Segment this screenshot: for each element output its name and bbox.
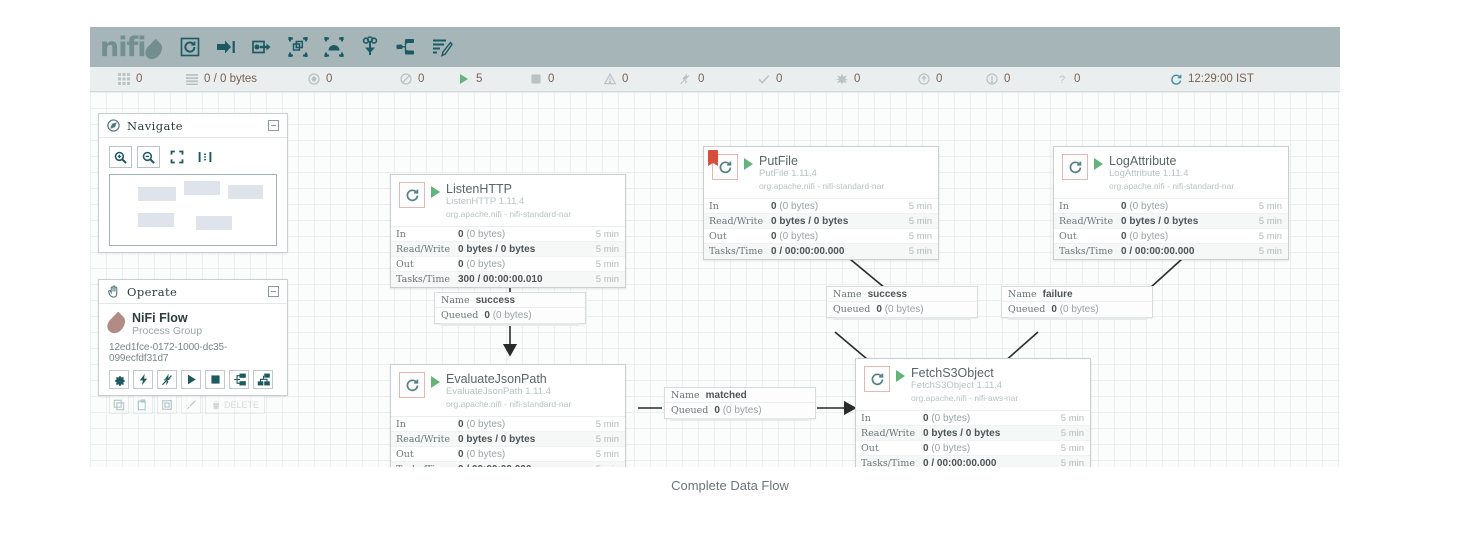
stat-period: 5 min <box>596 274 619 285</box>
processor-bundle: org.apache.nifi - nifi-aws-nar <box>911 393 1018 404</box>
stat-read-write: Read/Write0 bytes / 0 bytes5 min <box>856 426 1090 441</box>
connection-queued-label: Queued <box>441 310 478 321</box>
connection-queued-value: 0 (0 bytes) <box>876 304 923 315</box>
status-item-unknown: ?0 <box>1056 73 1080 85</box>
navigate-title: Navigate <box>127 119 183 133</box>
processor-type-icon <box>864 366 890 392</box>
operate-primary-buttons <box>109 370 277 389</box>
status-item-running: 5 <box>458 73 482 85</box>
stat-label: Out <box>396 259 458 270</box>
refresh-icon <box>1170 73 1182 85</box>
status-item-not-transmitting: 0 <box>400 73 424 85</box>
app-header: nifi <box>90 27 1340 67</box>
queued-icon <box>186 73 198 85</box>
status-value: 0 <box>936 73 942 85</box>
processor-bundle: org.apache.nifi - nifi-standard-nar <box>446 209 571 220</box>
stat-value: 0 (0 bytes) <box>458 419 505 430</box>
minimap-node <box>196 216 232 230</box>
stat-period: 5 min <box>596 259 619 270</box>
navigate-panel: Navigate <box>98 113 288 253</box>
operate-secondary-buttons: DELETE <box>109 395 277 414</box>
status-value: 0 <box>854 73 860 85</box>
status-value: 0 <box>1004 73 1010 85</box>
run-status-icon <box>744 158 753 170</box>
connection-name-value: success <box>476 295 515 306</box>
connection-progress-bar <box>671 418 809 421</box>
stat-value: 0 (0 bytes) <box>923 443 970 454</box>
operate-header: Operate <box>99 280 287 304</box>
stat-period: 5 min <box>1259 216 1282 227</box>
stat-value: 0 (0 bytes) <box>1121 231 1168 242</box>
processor-name: EvaluateJsonPath <box>446 372 571 386</box>
status-value: 5 <box>476 73 482 85</box>
processor-type: LogAttribute 1.11.4 <box>1109 168 1234 181</box>
stat-period: 5 min <box>909 201 932 212</box>
stat-label: In <box>709 201 771 212</box>
stat-value: 0 bytes / 0 bytes <box>771 216 848 227</box>
stat-value: 0 / 00:00:00.000 <box>1121 246 1194 257</box>
stat-label: In <box>861 413 923 424</box>
processor-type-icon <box>1062 154 1088 180</box>
processor-type: PutFile 1.11.4 <box>759 168 884 181</box>
processor-titles: FetchS3ObjectFetchS3Object 1.11.4org.apa… <box>911 366 1018 404</box>
navigate-buttons <box>99 138 287 174</box>
connection-queued-row: Queued0 (0 bytes) <box>827 302 977 317</box>
status-value: 0 <box>548 73 554 85</box>
stat-value: 0 (0 bytes) <box>923 413 970 424</box>
stat-label: Tasks/Time <box>861 458 923 467</box>
processor-icon[interactable] <box>179 36 201 58</box>
stat-period: 5 min <box>596 464 619 467</box>
disable-transmission-button[interactable] <box>253 370 273 389</box>
navigate-collapse-icon[interactable] <box>268 120 279 131</box>
processor-name: PutFile <box>759 154 884 168</box>
stat-value: 0 / 00:00:00.000 <box>458 464 531 467</box>
stat-out: Out0 (0 bytes)5 min <box>1054 229 1288 244</box>
connection-success-c1[interactable]: NamesuccessQueued0 (0 bytes) <box>434 292 586 324</box>
stat-label: Out <box>861 443 923 454</box>
stat-value: 0 (0 bytes) <box>771 231 818 242</box>
status-bar: 00 / 0 bytes0050000000?012:29:00 IST <box>90 67 1340 92</box>
color-button[interactable] <box>181 395 201 414</box>
enable-transmission-button[interactable] <box>229 370 249 389</box>
run-status-icon <box>1094 158 1103 170</box>
stat-label: Out <box>709 231 771 242</box>
stat-value: 0 bytes / 0 bytes <box>923 428 1000 439</box>
stop-button[interactable] <box>205 370 225 389</box>
stat-label: Read/Write <box>396 244 458 255</box>
processor-type: ListenHTTP 1.11.4 <box>446 196 571 209</box>
start-button[interactable] <box>181 370 201 389</box>
stat-label: Tasks/Time <box>396 464 458 467</box>
processor-bundle: org.apache.nifi - nifi-standard-nar <box>446 399 571 410</box>
processor-stats: In0 (0 bytes)5 minRead/Write0 bytes / 0 … <box>391 416 625 467</box>
processor-listenhttp[interactable]: ListenHTTPListenHTTP 1.11.4org.apache.ni… <box>390 174 626 288</box>
navigate-icon <box>107 119 120 132</box>
processor-stats: In0 (0 bytes)5 minRead/Write0 bytes / 0 … <box>856 410 1090 467</box>
status-value: 0 <box>776 73 782 85</box>
processor-stats: In0 (0 bytes)5 minRead/Write0 bytes / 0 … <box>704 198 938 259</box>
output-port-icon[interactable] <box>251 36 273 58</box>
connection-progress-bar <box>441 323 579 326</box>
processor-header: LogAttributeLogAttribute 1.11.4org.apach… <box>1054 147 1288 198</box>
stat-period: 5 min <box>909 246 932 257</box>
connection-queued-label: Queued <box>671 405 708 416</box>
processor-bundle: org.apache.nifi - nifi-standard-nar <box>759 181 884 192</box>
processor-type: FetchS3Object 1.11.4 <box>911 380 1018 393</box>
stat-out: Out0 (0 bytes)5 min <box>704 229 938 244</box>
connection-queued-row: Queued0 (0 bytes) <box>665 403 815 418</box>
connection-name-label: Name <box>833 289 862 300</box>
stat-value: 0 bytes / 0 bytes <box>1121 216 1198 227</box>
connection-progress-bar <box>833 317 971 320</box>
navigate-header: Navigate <box>99 114 287 138</box>
stat-label: Out <box>396 449 458 460</box>
connection-name-label: Name <box>441 295 470 306</box>
stat-label: Tasks/Time <box>709 246 771 257</box>
processor-stats: In0 (0 bytes)5 minRead/Write0 bytes / 0 … <box>1054 198 1288 259</box>
status-value: 12:29:00 IST <box>1188 73 1254 85</box>
bulletin-indicator-icon[interactable] <box>708 150 718 163</box>
status-item-transmitting: 0 <box>308 73 332 85</box>
processor-putfile[interactable]: PutFilePutFile 1.11.4org.apache.nifi - n… <box>703 146 939 260</box>
connection-name-value: failure <box>1043 289 1073 300</box>
minimap-node <box>184 181 220 195</box>
stat-period: 5 min <box>596 449 619 460</box>
process-group-icon[interactable] <box>287 36 309 58</box>
processor-header: PutFilePutFile 1.11.4org.apache.nifi - n… <box>704 147 938 198</box>
stat-read-write: Read/Write0 bytes / 0 bytes5 min <box>704 214 938 229</box>
stat-period: 5 min <box>596 434 619 445</box>
running-icon <box>458 73 470 85</box>
remote-process-group-icon[interactable] <box>323 36 345 58</box>
active-threads-icon <box>118 73 130 85</box>
connection-failure-c4[interactable]: NamefailureQueued0 (0 bytes) <box>1001 286 1153 318</box>
stat-in: In0 (0 bytes)5 min <box>856 411 1090 426</box>
navigate-minimap[interactable] <box>109 174 277 246</box>
processor-type-icon <box>399 372 425 398</box>
stat-period: 5 min <box>596 419 619 430</box>
zoom-in-icon[interactable] <box>109 146 132 168</box>
status-item-invalid: 0 <box>604 73 628 85</box>
status-item-sync-failure: 0 <box>986 73 1010 85</box>
stat-period: 5 min <box>1061 458 1084 467</box>
input-port-icon[interactable] <box>215 36 237 58</box>
stat-tasks-time: Tasks/Time0 / 00:00:00.0005 min <box>391 462 625 467</box>
sync-failure-icon <box>986 73 998 85</box>
label-icon[interactable] <box>431 36 453 58</box>
transmitting-icon <box>308 73 320 85</box>
connection-name-row: Namesuccess <box>827 287 977 302</box>
process-group-droplet-icon <box>104 312 129 337</box>
connection-queued-value: 0 (0 bytes) <box>484 310 531 321</box>
connection-queued-value: 0 (0 bytes) <box>714 405 761 416</box>
connection-queued-label: Queued <box>1008 304 1045 315</box>
operate-flow-type: Process Group <box>132 325 202 337</box>
status-item-refresh: 12:29:00 IST <box>1170 73 1254 85</box>
stat-in: In0 (0 bytes)5 min <box>1054 199 1288 214</box>
stat-value: 0 (0 bytes) <box>458 259 505 270</box>
stat-value: 0 / 00:00:00.000 <box>923 458 996 467</box>
stat-value: 0 bytes / 0 bytes <box>458 244 535 255</box>
processor-header: FetchS3ObjectFetchS3Object 1.11.4org.apa… <box>856 359 1090 410</box>
stat-label: In <box>1059 201 1121 212</box>
connection-name-value: matched <box>706 390 747 401</box>
stat-label: In <box>396 229 458 240</box>
processor-header: EvaluateJsonPathEvaluateJsonPath 1.11.4o… <box>391 365 625 416</box>
stat-period: 5 min <box>596 229 619 240</box>
copy-button[interactable] <box>109 395 129 414</box>
operate-selection: NiFi Flow Process Group <box>109 311 277 337</box>
connection-progress-bar <box>1008 317 1146 320</box>
logo-text: nifi <box>100 34 145 61</box>
figure-caption: Complete Data Flow <box>0 478 1460 493</box>
processor-type-icon <box>399 182 425 208</box>
stat-in: In0 (0 bytes)5 min <box>391 417 625 432</box>
stat-read-write: Read/Write0 bytes / 0 bytes5 min <box>391 432 625 447</box>
stale-icon <box>918 73 930 85</box>
processor-name: ListenHTTP <box>446 182 571 196</box>
disable-button[interactable] <box>157 370 177 389</box>
connection-matched-c2[interactable]: NamematchedQueued0 (0 bytes) <box>664 387 816 419</box>
run-status-icon <box>431 186 440 198</box>
stat-period: 5 min <box>1061 443 1084 454</box>
status-value: 0 <box>622 73 628 85</box>
stat-in: In0 (0 bytes)5 min <box>391 227 625 242</box>
stat-period: 5 min <box>1061 428 1084 439</box>
status-item-stopped: 0 <box>530 73 554 85</box>
connection-queued-row: Queued0 (0 bytes) <box>1002 302 1152 317</box>
stat-tasks-time: Tasks/Time0 / 00:00:00.0005 min <box>704 244 938 259</box>
svg-text:?: ? <box>1059 74 1065 85</box>
status-item-locally-modified: 0 <box>836 73 860 85</box>
stat-label: Tasks/Time <box>1059 246 1121 257</box>
status-value: 0 <box>1074 73 1080 85</box>
stat-in: In0 (0 bytes)5 min <box>704 199 938 214</box>
component-toolbar <box>179 36 453 58</box>
status-value: 0 <box>326 73 332 85</box>
processor-bundle: org.apache.nifi - nifi-standard-nar <box>1109 181 1234 192</box>
stat-label: Read/Write <box>396 434 458 445</box>
status-value: 0 / 0 bytes <box>204 73 257 85</box>
status-value: 0 <box>698 73 704 85</box>
processor-fetchs3object[interactable]: FetchS3ObjectFetchS3Object 1.11.4org.apa… <box>855 358 1091 467</box>
processor-titles: EvaluateJsonPathEvaluateJsonPath 1.11.4o… <box>446 372 571 410</box>
minimap-node <box>138 213 174 227</box>
stat-label: In <box>396 419 458 430</box>
operate-flow-name: NiFi Flow <box>132 311 202 325</box>
processor-name: FetchS3Object <box>911 366 1018 380</box>
connection-name-row: Namesuccess <box>435 293 585 308</box>
unknown-icon: ? <box>1056 73 1068 85</box>
stat-read-write: Read/Write0 bytes / 0 bytes5 min <box>1054 214 1288 229</box>
processor-titles: LogAttributeLogAttribute 1.11.4org.apach… <box>1109 154 1234 192</box>
status-value: 0 <box>136 73 142 85</box>
stat-period: 5 min <box>1259 231 1282 242</box>
status-item-up-to-date: 0 <box>758 73 782 85</box>
processor-logattribute[interactable]: LogAttributeLogAttribute 1.11.4org.apach… <box>1053 146 1289 260</box>
stat-label: Tasks/Time <box>396 274 458 285</box>
connection-name-label: Name <box>671 390 700 401</box>
connection-queued-row: Queued0 (0 bytes) <box>435 308 585 323</box>
connection-queued-label: Queued <box>833 304 870 315</box>
processor-type: EvaluateJsonPath 1.11.4 <box>446 386 571 399</box>
status-item-active-threads: 0 <box>118 73 142 85</box>
locally-modified-icon <box>836 73 848 85</box>
stat-tasks-time: Tasks/Time300 / 00:00:00.0105 min <box>391 272 625 287</box>
operate-flow-id: 12ed1fce-0172-1000-dc35-099ecfdf31d7 <box>109 342 277 364</box>
enable-button[interactable] <box>133 370 153 389</box>
stat-read-write: Read/Write0 bytes / 0 bytes5 min <box>391 242 625 257</box>
stat-period: 5 min <box>1259 246 1282 257</box>
processor-header: ListenHTTPListenHTTP 1.11.4org.apache.ni… <box>391 175 625 226</box>
operate-title: Operate <box>127 285 177 299</box>
stat-period: 5 min <box>1061 413 1084 424</box>
stat-tasks-time: Tasks/Time0 / 00:00:00.0005 min <box>856 456 1090 467</box>
paste-button[interactable] <box>133 395 153 414</box>
stat-period: 5 min <box>596 244 619 255</box>
stat-out: Out0 (0 bytes)5 min <box>391 447 625 462</box>
operate-collapse-icon[interactable] <box>268 286 279 297</box>
connection-name-label: Name <box>1008 289 1037 300</box>
stat-value: 300 / 00:00:00.010 <box>458 274 543 285</box>
stat-label: Read/Write <box>709 216 771 227</box>
minimap-node <box>228 185 263 199</box>
delete-button[interactable]: DELETE <box>205 395 265 414</box>
stat-out: Out0 (0 bytes)5 min <box>391 257 625 272</box>
stat-period: 5 min <box>909 216 932 227</box>
disabled-icon <box>680 73 692 85</box>
nifi-screenshot: nifi <box>0 0 1460 560</box>
processor-evaluatejsonpath[interactable]: EvaluateJsonPathEvaluateJsonPath 1.11.4o… <box>390 364 626 467</box>
processor-titles: PutFilePutFile 1.11.4org.apache.nifi - n… <box>759 154 884 192</box>
delete-label: DELETE <box>224 400 259 410</box>
nifi-logo: nifi <box>100 34 161 61</box>
run-status-icon <box>431 376 440 388</box>
processor-stats: In0 (0 bytes)5 minRead/Write0 bytes / 0 … <box>391 226 625 287</box>
zoom-actual-icon[interactable] <box>193 146 216 168</box>
logo-droplet-icon <box>143 38 166 61</box>
operate-panel: Operate NiFi Flow Process Group 12ed1fce… <box>98 279 288 396</box>
status-value: 0 <box>418 73 424 85</box>
stat-out: Out0 (0 bytes)5 min <box>856 441 1090 456</box>
stat-value: 0 (0 bytes) <box>458 449 505 460</box>
configure-button[interactable] <box>109 370 129 389</box>
connection-success-c3[interactable]: NamesuccessQueued0 (0 bytes) <box>826 286 978 318</box>
stat-label: Read/Write <box>1059 216 1121 227</box>
up-to-date-icon <box>758 73 770 85</box>
stat-value: 0 bytes / 0 bytes <box>458 434 535 445</box>
processor-titles: ListenHTTPListenHTTP 1.11.4org.apache.ni… <box>446 182 571 220</box>
stat-label: Out <box>1059 231 1121 242</box>
processor-name: LogAttribute <box>1109 154 1234 168</box>
operate-hand-icon <box>107 285 120 298</box>
connection-name-row: Namefailure <box>1002 287 1152 302</box>
stat-value: 0 / 00:00:00.000 <box>771 246 844 257</box>
stopped-icon <box>530 73 542 85</box>
connection-name-value: success <box>868 289 907 300</box>
status-item-stale: 0 <box>918 73 942 85</box>
stat-value: 0 (0 bytes) <box>771 201 818 212</box>
stat-value: 0 (0 bytes) <box>458 229 505 240</box>
operate-body: NiFi Flow Process Group 12ed1fce-0172-10… <box>99 304 287 422</box>
processor-type-icon <box>712 154 738 180</box>
run-status-icon <box>896 370 905 382</box>
not-transmitting-icon <box>400 73 412 85</box>
connection-name-row: Namematched <box>665 388 815 403</box>
stat-value: 0 (0 bytes) <box>1121 201 1168 212</box>
stat-period: 5 min <box>909 231 932 242</box>
zoom-out-icon[interactable] <box>137 146 160 168</box>
zoom-fit-icon[interactable] <box>165 146 188 168</box>
minimap-node <box>138 187 176 201</box>
stat-period: 5 min <box>1259 201 1282 212</box>
invalid-icon <box>604 73 616 85</box>
group-button[interactable] <box>157 395 177 414</box>
stat-label: Read/Write <box>861 428 923 439</box>
stat-tasks-time: Tasks/Time0 / 00:00:00.0005 min <box>1054 244 1288 259</box>
status-item-queued: 0 / 0 bytes <box>186 73 257 85</box>
template-icon[interactable] <box>395 36 417 58</box>
connection-queued-value: 0 (0 bytes) <box>1051 304 1098 315</box>
funnel-icon[interactable] <box>359 36 381 58</box>
status-item-disabled: 0 <box>680 73 704 85</box>
